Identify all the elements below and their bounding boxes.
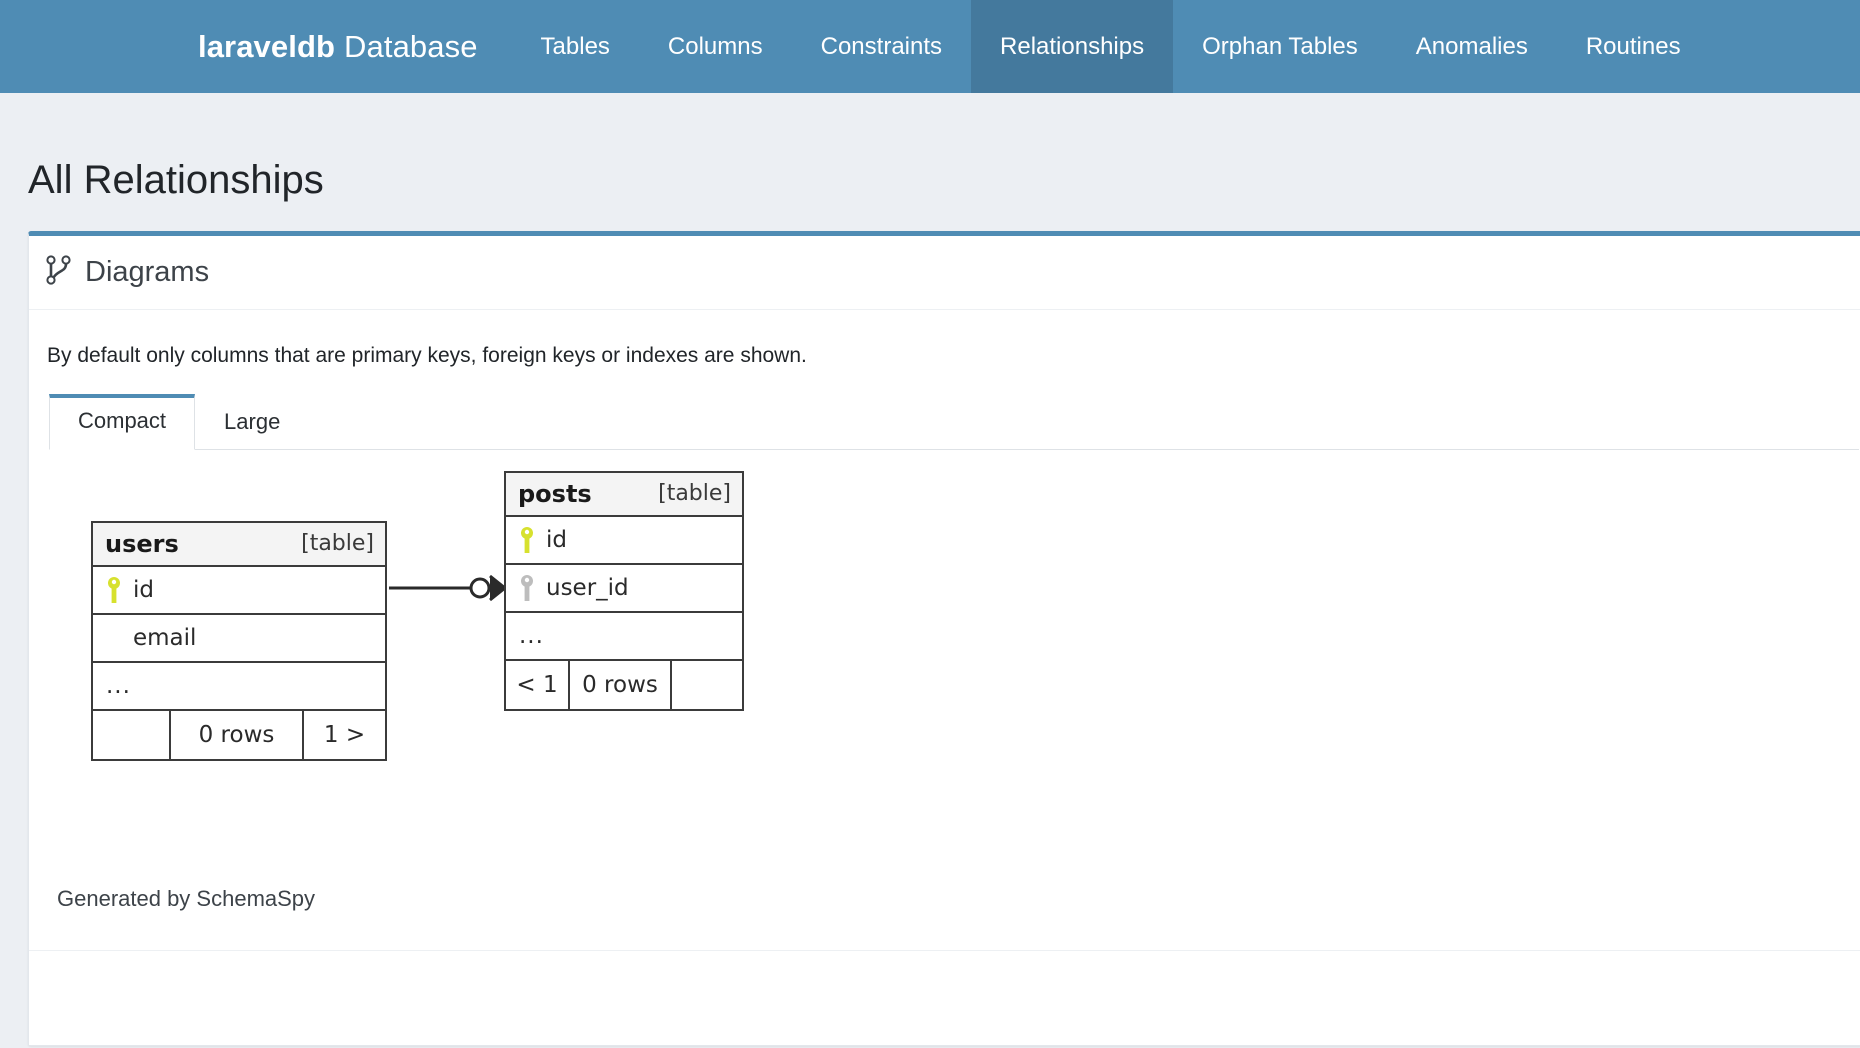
nav-item-columns[interactable]: Columns [639,0,792,93]
hint-text: By default only columns that are primary… [47,344,1860,368]
er-table-title: users [table] [93,523,385,567]
er-table-tag: [table] [301,531,374,556]
er-footer-left: < 1 [506,661,570,709]
er-more-columns: ... [506,613,742,661]
er-column-row: id [506,517,742,565]
er-column-name: id [546,527,567,553]
card-header: Diagrams [29,236,1860,310]
er-column-name: user_id [546,575,629,601]
page-title: All Relationships [0,120,1860,204]
er-table-name: users [105,530,179,558]
brand-suffix: Database [344,29,478,65]
er-table-tag: [table] [658,481,731,506]
er-table-users[interactable]: users [table] id email [91,521,387,761]
no-key-spacer-icon [106,624,122,652]
er-table-posts[interactable]: posts [table] id [504,471,744,711]
nav-item-orphan-tables[interactable]: Orphan Tables [1173,0,1387,93]
nav-item-tables[interactable]: Tables [512,0,639,93]
nav-item-routines[interactable]: Routines [1557,0,1710,93]
er-footer-rows: 0 rows [171,711,304,759]
er-column-name: id [133,577,154,603]
er-column-name: email [133,625,196,651]
nav-item-relationships[interactable]: Relationships [971,0,1173,93]
tab-compact[interactable]: Compact [49,394,195,450]
diagrams-card: Diagrams By default only columns that ar… [28,231,1860,1046]
card-body: By default only columns that are primary… [29,310,1860,950]
brand-logo[interactable]: laraveldb Database [198,0,512,93]
card-header-title: Diagrams [85,256,209,289]
generated-by-label: Generated by SchemaSpy [47,886,1860,950]
er-footer-right: 1 > [304,711,385,759]
primary-key-icon [106,576,122,604]
nav-item-anomalies[interactable]: Anomalies [1387,0,1557,93]
er-column-row: email [93,615,385,663]
main-navbar: laraveldb Database Tables Columns Constr… [0,0,1860,93]
er-table-footer: < 1 0 rows [506,661,742,709]
er-diagram: users [table] id email [47,456,1860,886]
er-column-row: id [93,567,385,615]
primary-key-icon [519,526,535,554]
er-table-name: posts [518,480,592,508]
foreign-key-icon [519,574,535,602]
brand-name: laraveldb [198,29,335,65]
er-table-title: posts [table] [506,473,742,517]
er-footer-rows: 0 rows [570,661,672,709]
er-footer-left [93,711,171,759]
nav-item-constraints[interactable]: Constraints [792,0,971,93]
er-more-columns: ... [93,663,385,711]
diagram-tabs: Compact Large [49,394,1859,450]
nav-item-list: Tables Columns Constraints Relationships… [512,0,1710,93]
git-branch-icon [46,255,72,290]
card-footer [29,950,1860,1045]
er-table-footer: 0 rows 1 > [93,711,385,759]
tab-large[interactable]: Large [195,395,309,450]
er-column-row: user_id [506,565,742,613]
er-footer-right [672,661,742,709]
